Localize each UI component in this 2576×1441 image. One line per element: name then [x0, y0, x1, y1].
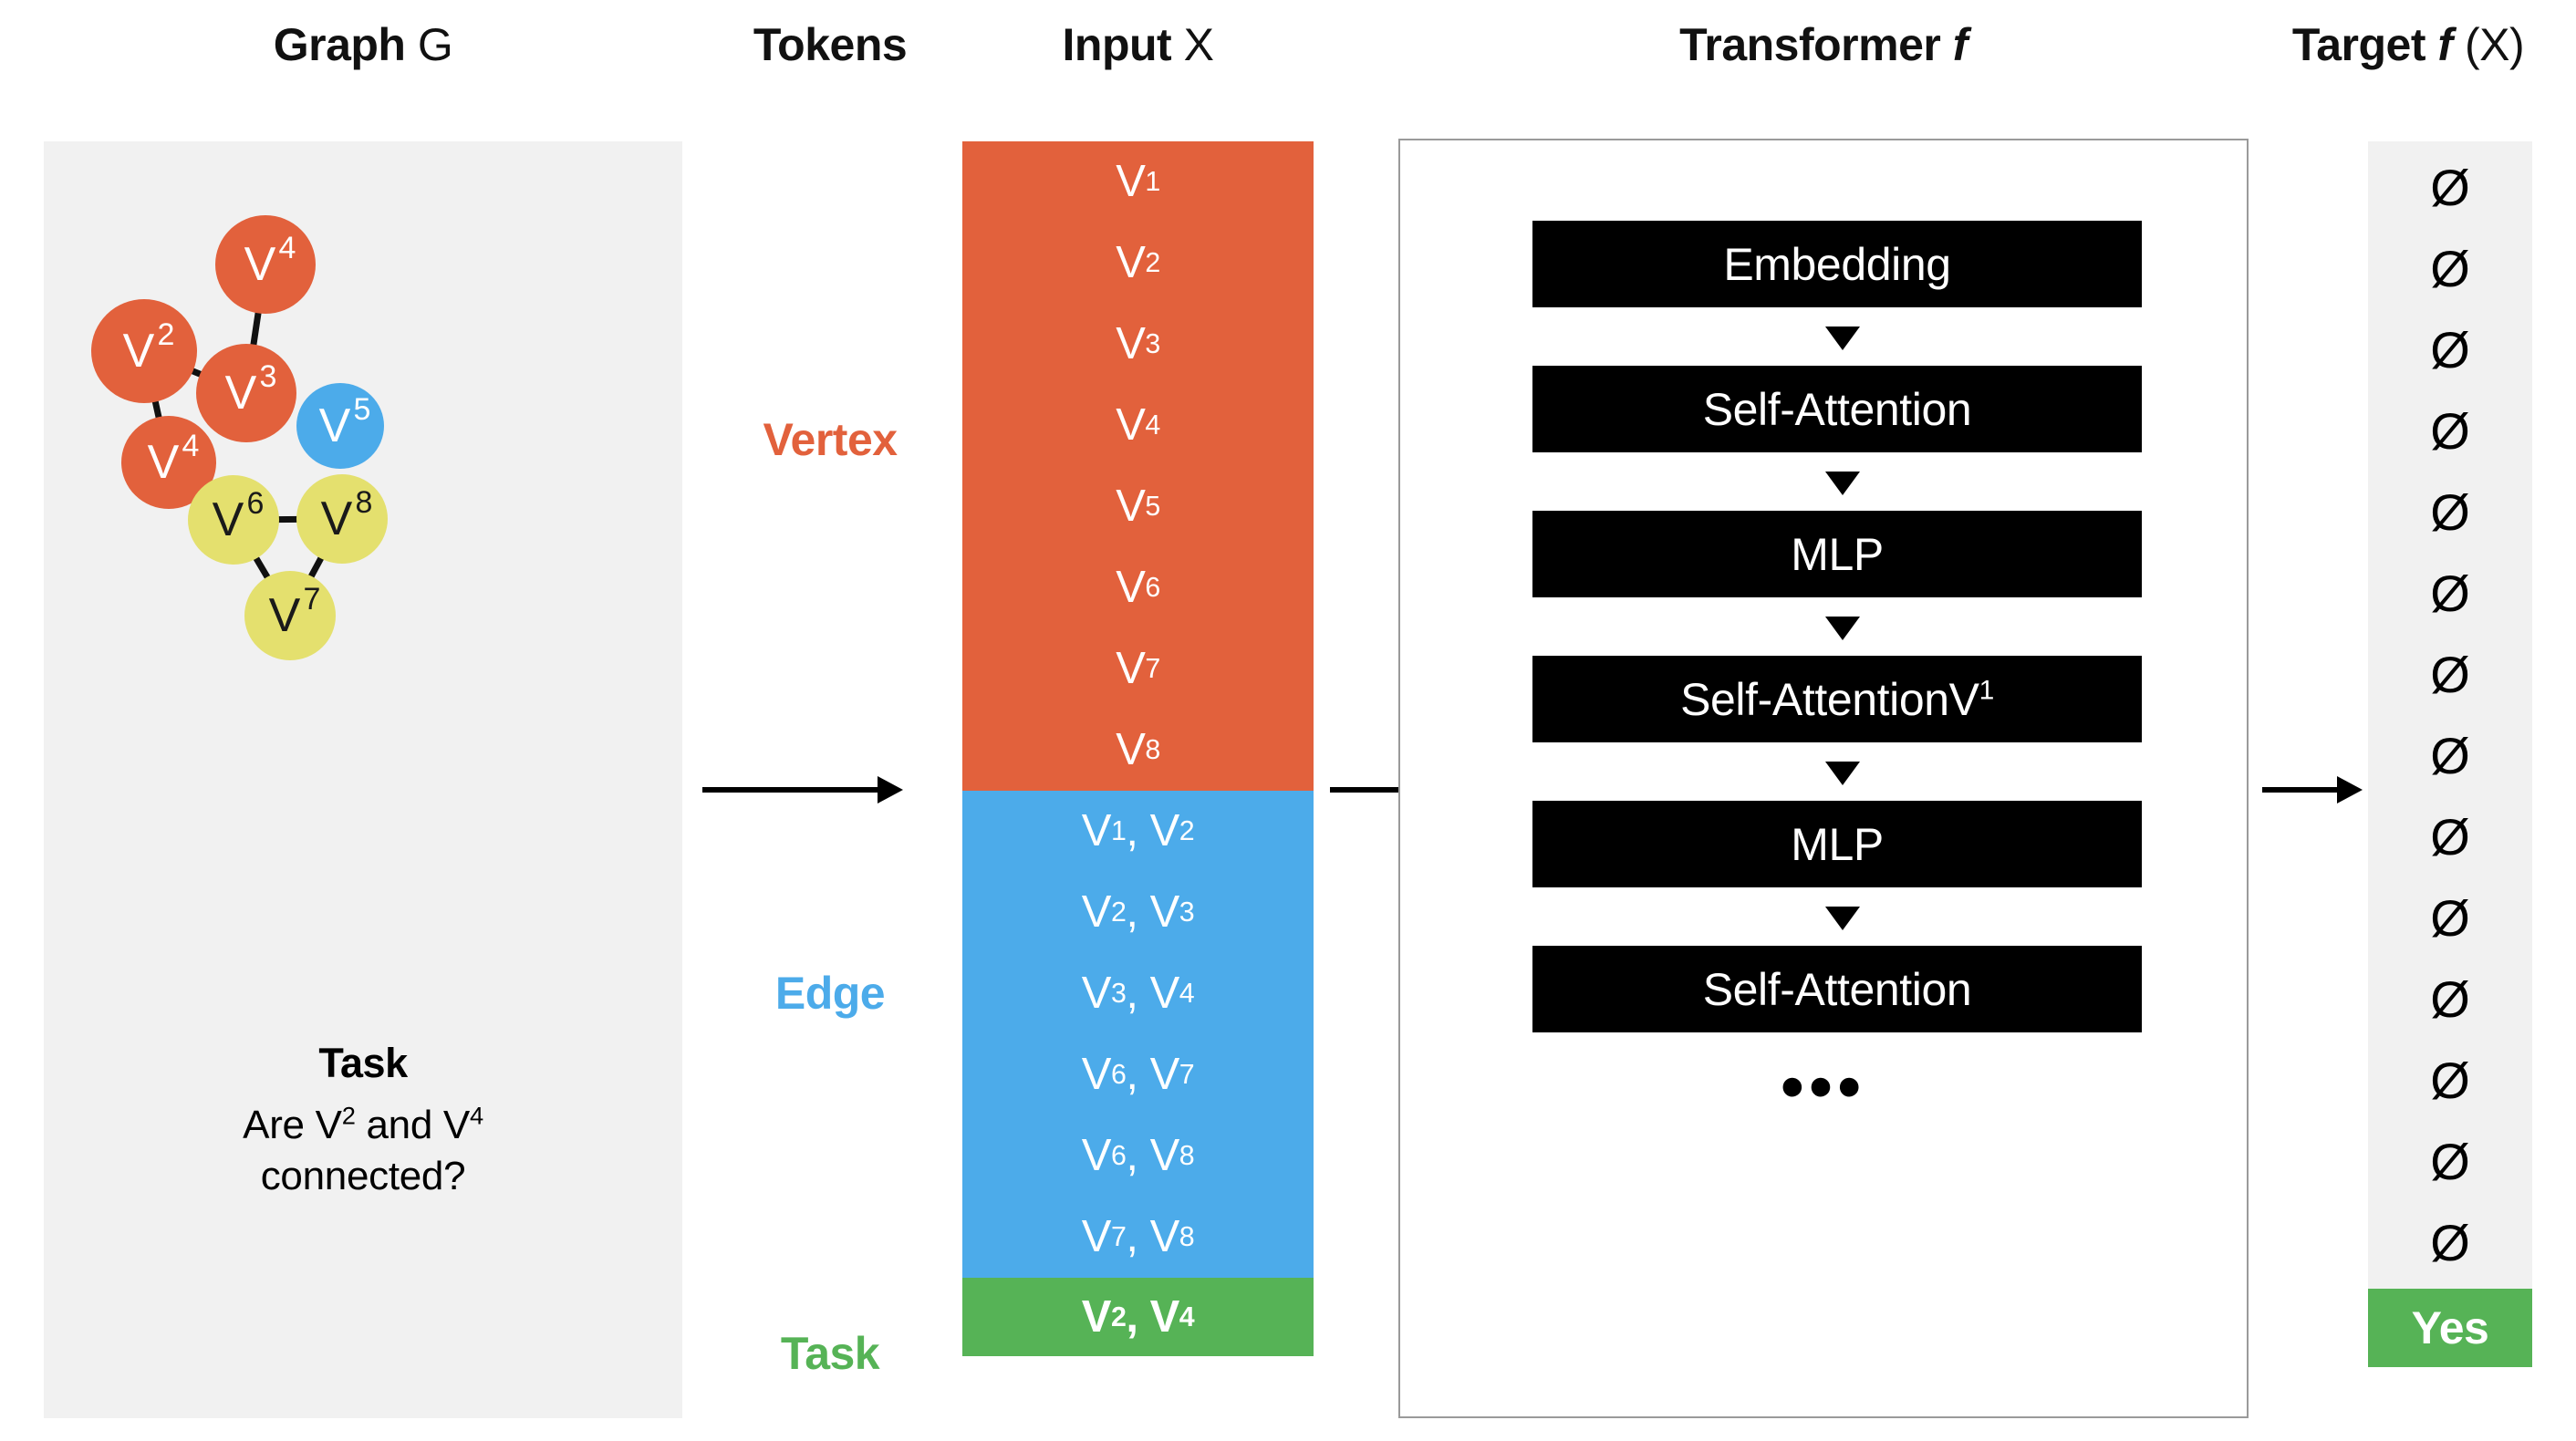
input-token-row: V1, V2: [962, 791, 1314, 872]
target-empty-symbol: Ø: [2368, 147, 2532, 228]
header-graph-bold: Graph: [274, 19, 406, 70]
graph-node[interactable]: V3: [196, 344, 296, 442]
transformer-layer-box[interactable]: Self-Attention V1: [1532, 656, 2142, 742]
graph-node-superscript: 4: [279, 231, 296, 265]
graph-node-label: V: [148, 436, 180, 489]
token-superscript: 4: [1145, 411, 1159, 439]
token-base: , V: [1126, 809, 1179, 854]
token-base: V: [1116, 160, 1145, 204]
graph-node-superscript: 5: [354, 392, 371, 427]
transformer-panel: EmbeddingSelf-AttentionMLPSelf-Attention…: [1398, 139, 2249, 1418]
token-superscript: 7: [1111, 1223, 1126, 1250]
graph-node-superscript: 3: [260, 359, 277, 394]
graph-node-label: V: [213, 493, 244, 546]
token-base: V: [1082, 1134, 1111, 1178]
token-superscript: 6: [1145, 574, 1159, 601]
target-empty-symbol: Ø: [2368, 877, 2532, 959]
token-base: V: [1082, 1295, 1111, 1340]
graph-node-label: V: [269, 589, 301, 642]
token-base: V: [1082, 890, 1111, 935]
input-token-row: V6, V7: [962, 1034, 1314, 1115]
token-superscript: 7: [1179, 1061, 1194, 1088]
input-token-row: V2, V3: [962, 872, 1314, 953]
graph-node-label: V: [321, 492, 353, 545]
graph-node[interactable]: V2: [91, 299, 197, 403]
input-token-row: V8: [962, 710, 1314, 791]
header-target-bold: Target: [2292, 19, 2425, 70]
graph-panel: V2V4V3V4V5V6V7V8 Task Are V2 and V4 conn…: [44, 141, 682, 1418]
header-input-plain: X: [1184, 19, 1214, 70]
token-group-label-task: Task: [693, 1327, 967, 1380]
graph-node[interactable]: V6: [188, 475, 279, 565]
token-base: V: [1116, 647, 1145, 691]
header-tokens: Tokens: [693, 18, 967, 71]
token-superscript: 2: [1111, 1303, 1126, 1331]
header-input-bold: Input: [1063, 19, 1172, 70]
transformer-flow-arrow-icon: [1825, 472, 1860, 495]
token-superscript: 8: [1179, 1142, 1194, 1169]
target-empty-symbol: Ø: [2368, 553, 2532, 634]
transformer-layer-box[interactable]: Self-Attention: [1532, 366, 2142, 452]
transformer-layer-token: V1: [1949, 673, 1994, 726]
input-token-row: V6: [962, 547, 1314, 628]
arrow-transformer-to-target: [2262, 773, 2363, 806]
graph-node-superscript: 4: [182, 429, 200, 463]
task-question: Are V2 and V4 connected?: [44, 1100, 682, 1202]
graph-node-superscript: 8: [356, 485, 373, 520]
transformer-layer-label: Self-Attention: [1680, 673, 1949, 726]
token-superscript: 3: [1145, 330, 1159, 358]
token-superscript: 3: [1111, 980, 1126, 1007]
graph-node[interactable]: V7: [244, 571, 336, 660]
token-superscript: 2: [1179, 817, 1194, 845]
token-superscript: 1: [1111, 817, 1126, 845]
task-question-part2: and V: [356, 1103, 470, 1147]
token-base: V: [1116, 241, 1145, 285]
task-question-part1: Are V: [243, 1103, 342, 1147]
input-token-row: V7: [962, 628, 1314, 710]
token-base: V: [1116, 728, 1145, 772]
transformer-flow-arrow-icon: [1825, 762, 1860, 785]
transformer-flow-arrow-icon: [1825, 327, 1860, 350]
transformer-layer-token-superscript: 1: [1979, 675, 1994, 705]
target-empty-symbol: Ø: [2368, 634, 2532, 715]
input-token-row: V7, V8: [962, 1197, 1314, 1278]
task-question-sup2: 4: [470, 1101, 483, 1129]
target-answer-badge: Yes: [2368, 1289, 2532, 1367]
token-base: V: [1116, 403, 1145, 448]
token-base: , V: [1126, 890, 1179, 935]
token-base: V: [1116, 565, 1145, 610]
input-token-row: V1: [962, 141, 1314, 223]
transformer-layer-label: MLP: [1791, 818, 1884, 871]
graph-node-superscript: 7: [304, 582, 321, 617]
token-base: V: [1116, 322, 1145, 367]
target-empty-list: ØØØØØØØØØØØØØØ: [2368, 141, 2532, 1289]
transformer-ellipsis: •••: [1400, 1054, 2247, 1120]
header-tokens-bold: Tokens: [753, 19, 907, 70]
token-superscript: 5: [1145, 492, 1159, 520]
transformer-layer-label: Embedding: [1723, 238, 1950, 291]
token-base: , V: [1126, 1295, 1179, 1340]
graph-node[interactable]: V4: [215, 215, 316, 314]
token-superscript: 6: [1111, 1061, 1126, 1088]
token-superscript: 8: [1145, 736, 1159, 763]
input-segment-vertex: V1V2V3V4V5V6V7V8: [962, 141, 1314, 791]
token-group-label-edge: Edge: [693, 967, 967, 1020]
token-superscript: 7: [1145, 655, 1159, 682]
task-block: Task Are V2 and V4 connected?: [44, 1040, 682, 1202]
token-base: V: [1082, 971, 1111, 1016]
target-empty-symbol: Ø: [2368, 390, 2532, 472]
graph-node-label: V: [123, 325, 155, 378]
input-token-row: V3: [962, 304, 1314, 385]
input-segment-task: V2, V4: [962, 1278, 1314, 1356]
target-empty-symbol: Ø: [2368, 715, 2532, 796]
target-empty-symbol: Ø: [2368, 1121, 2532, 1202]
input-segment-edge: V1, V2V2, V3V3, V4V6, V7V6, V8V7, V8: [962, 791, 1314, 1278]
token-superscript: 8: [1179, 1223, 1194, 1250]
graph-node-label: V: [244, 238, 276, 291]
graph-diagram: V2V4V3V4V5V6V7V8: [44, 141, 682, 1035]
token-base: , V: [1126, 1134, 1179, 1178]
transformer-flow-arrow-icon: [1825, 907, 1860, 930]
task-title: Task: [44, 1040, 682, 1087]
graph-node-superscript: 2: [158, 317, 175, 352]
target-empty-symbol: Ø: [2368, 1202, 2532, 1283]
token-superscript: 2: [1111, 898, 1126, 926]
transformer-layer-box[interactable]: MLP: [1532, 511, 2142, 597]
graph-node[interactable]: V8: [296, 474, 388, 564]
token-base: V: [1116, 484, 1145, 529]
token-superscript: 1: [1145, 168, 1159, 195]
transformer-layer-box[interactable]: Embedding: [1532, 221, 2142, 307]
target-empty-symbol: Ø: [2368, 796, 2532, 877]
token-base: V: [1082, 809, 1111, 854]
target-empty-symbol: Ø: [2368, 1040, 2532, 1121]
token-base: V: [1082, 1052, 1111, 1097]
target-empty-symbol: Ø: [2368, 228, 2532, 309]
transformer-layer-label: Self-Attention: [1703, 383, 1972, 436]
token-superscript: 3: [1179, 898, 1194, 926]
graph-node[interactable]: V5: [296, 383, 384, 469]
target-empty-symbol: Ø: [2368, 472, 2532, 553]
input-token-stack: V1V2V3V4V5V6V7V8V1, V2V2, V3V3, V4V6, V7…: [962, 141, 1314, 1356]
input-token-row: V5: [962, 466, 1314, 547]
task-question-sup1: 2: [342, 1101, 356, 1129]
token-base: , V: [1126, 1215, 1179, 1260]
header-transformer-italic: f: [1953, 19, 1968, 70]
target-empty-symbol: Ø: [2368, 959, 2532, 1040]
target-empty-symbol: Ø: [2368, 309, 2532, 390]
task-question-part3: connected?: [261, 1154, 466, 1198]
token-base: V: [1082, 1215, 1111, 1260]
input-token-row: V2, V4: [962, 1278, 1314, 1356]
input-token-row: V2: [962, 223, 1314, 304]
target-column: ØØØØØØØØØØØØØØ Yes: [2368, 141, 2532, 1367]
header-graph-plain: G: [418, 19, 452, 70]
header-target-italic: f: [2437, 19, 2452, 70]
header-target-plain: (X): [2465, 19, 2524, 70]
transformer-flow-arrow-icon: [1825, 617, 1860, 640]
token-superscript: 2: [1145, 249, 1159, 276]
token-superscript: 4: [1179, 980, 1194, 1007]
header-graph: Graph G: [44, 18, 682, 71]
graph-node-label: V: [319, 399, 351, 452]
input-token-row: V4: [962, 385, 1314, 466]
transformer-layer-label: Self-Attention: [1703, 963, 1972, 1016]
input-token-row: V3, V4: [962, 953, 1314, 1034]
token-superscript: 4: [1179, 1303, 1194, 1331]
header-target: Target f (X): [2253, 18, 2563, 71]
graph-node-superscript: 6: [247, 486, 265, 521]
token-group-label-vertex: Vertex: [693, 413, 967, 466]
header-transformer-bold: Transformer: [1679, 19, 1940, 70]
graph-node-label: V: [225, 367, 257, 420]
input-token-row: V6, V8: [962, 1115, 1314, 1197]
arrow-graph-to-input: [702, 773, 903, 806]
transformer-layer-box[interactable]: Self-Attention: [1532, 946, 2142, 1032]
transformer-layer-label: MLP: [1791, 528, 1884, 581]
header-input: Input X: [962, 18, 1314, 71]
header-transformer: Transformer f: [1398, 18, 2249, 71]
transformer-layer-box[interactable]: MLP: [1532, 801, 2142, 887]
token-base: , V: [1126, 971, 1179, 1016]
token-superscript: 6: [1111, 1142, 1126, 1169]
token-base: , V: [1126, 1052, 1179, 1097]
